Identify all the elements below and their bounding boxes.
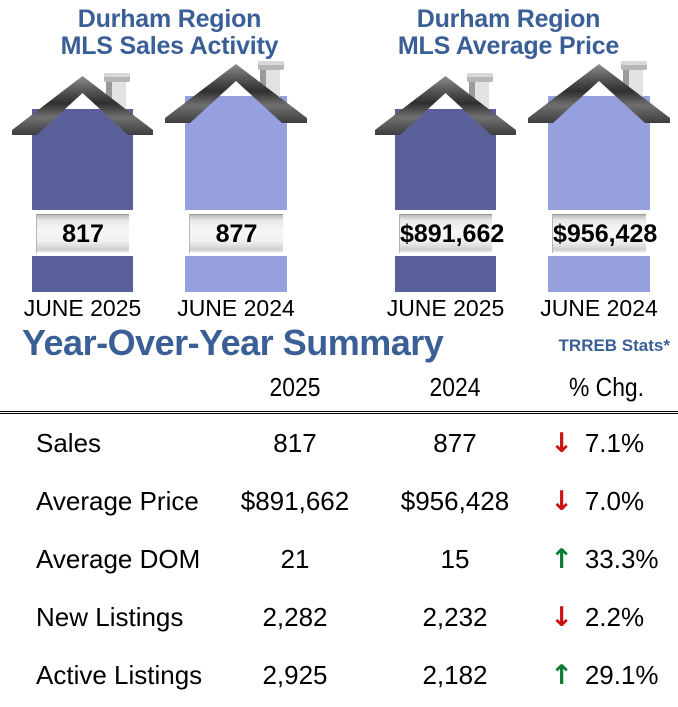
title-line-1: Durham Region bbox=[0, 6, 339, 33]
row-value-2024: 877 bbox=[375, 413, 535, 473]
row-value-2025: 817 bbox=[215, 413, 375, 473]
value-plate: $956,428 bbox=[552, 214, 646, 253]
table-row: Average DOM 21 15 ↑ 33.3% bbox=[0, 530, 678, 588]
chart-titles: Durham Region MLS Sales Activity Durham … bbox=[0, 0, 678, 60]
house-value: 877 bbox=[216, 220, 258, 248]
house-body bbox=[32, 109, 133, 292]
table-row: Active Listings 2,925 2,182 ↑ 29.1% bbox=[0, 646, 678, 704]
title-sales-activity: Durham Region MLS Sales Activity bbox=[0, 6, 339, 60]
column-header-2024: 2024 bbox=[385, 372, 526, 413]
house-value: $891,662 bbox=[400, 220, 504, 248]
row-change: ↓ 7.0% bbox=[535, 472, 678, 530]
column-header-blank bbox=[0, 372, 215, 413]
row-value-2025: 2,282 bbox=[215, 588, 375, 646]
table-row: New Listings 2,282 2,232 ↓ 2.2% bbox=[0, 588, 678, 646]
row-change: ↓ 7.1% bbox=[535, 413, 678, 473]
title-line-2: MLS Sales Activity bbox=[0, 33, 339, 60]
house-avgprice-2024: $956,428 JUNE 2024 bbox=[548, 60, 650, 322]
column-header-2025: 2025 bbox=[225, 372, 366, 413]
roof-icon bbox=[373, 74, 518, 136]
value-plate: 877 bbox=[189, 214, 283, 253]
arrow-down-icon: ↓ bbox=[550, 604, 573, 631]
house-value: 817 bbox=[62, 220, 104, 248]
value-box: $891,662 bbox=[395, 210, 496, 256]
row-value-2025: 2,925 bbox=[215, 646, 375, 704]
arrow-down-icon: ↓ bbox=[550, 488, 573, 515]
row-label: Active Listings bbox=[0, 646, 215, 704]
summary-title: Year-Over-Year Summary bbox=[22, 322, 443, 364]
value-plate: $891,662 bbox=[399, 214, 492, 253]
title-line-1: Durham Region bbox=[339, 6, 678, 33]
title-line-2: MLS Average Price bbox=[339, 33, 678, 60]
table-header-row: 2025 2024 % Chg. bbox=[0, 372, 678, 413]
row-value-2024: 2,232 bbox=[375, 588, 535, 646]
arrow-down-icon: ↓ bbox=[550, 430, 573, 457]
house-body bbox=[185, 96, 287, 292]
row-pct: 7.0% bbox=[585, 486, 663, 517]
source-note: TRREB Stats* bbox=[559, 336, 670, 356]
table-row: Sales 817 877 ↓ 7.1% bbox=[0, 413, 678, 473]
row-value-2025: $891,662 bbox=[215, 472, 375, 530]
row-value-2024: $956,428 bbox=[375, 472, 535, 530]
house-month-label: JUNE 2024 bbox=[155, 295, 317, 322]
roof-icon bbox=[10, 74, 155, 136]
house-chart-group: 817 JUNE 2025 bbox=[0, 60, 678, 322]
row-label: Average DOM bbox=[0, 530, 215, 588]
table-row: Average Price $891,662 $956,428 ↓ 7.0% bbox=[0, 472, 678, 530]
row-pct: 7.1% bbox=[585, 428, 663, 459]
row-change: ↑ 29.1% bbox=[535, 646, 678, 704]
house-avgprice-2025: $891,662 JUNE 2025 bbox=[395, 60, 496, 322]
row-value-2024: 15 bbox=[375, 530, 535, 588]
house-month-label: JUNE 2025 bbox=[2, 295, 163, 322]
house-sales-2025: 817 JUNE 2025 bbox=[32, 60, 133, 322]
house-sales-2024: 877 JUNE 2024 bbox=[185, 60, 287, 322]
house-body bbox=[395, 109, 496, 292]
year-over-year-table: 2025 2024 % Chg. Sales 817 877 ↓ 7.1% Av… bbox=[0, 372, 678, 704]
summary-header: Year-Over-Year Summary TRREB Stats* bbox=[0, 322, 678, 372]
row-pct: 29.1% bbox=[585, 660, 663, 691]
house-month-label: JUNE 2024 bbox=[518, 295, 678, 322]
value-plate: 817 bbox=[36, 214, 129, 253]
house-month-label: JUNE 2025 bbox=[365, 295, 526, 322]
roof-icon bbox=[163, 62, 309, 124]
arrow-up-icon: ↑ bbox=[550, 546, 573, 573]
row-change: ↓ 2.2% bbox=[535, 588, 678, 646]
arrow-up-icon: ↑ bbox=[550, 662, 573, 689]
row-value-2024: 2,182 bbox=[375, 646, 535, 704]
row-pct: 2.2% bbox=[585, 602, 663, 633]
row-label: Average Price bbox=[0, 472, 215, 530]
row-value-2025: 21 bbox=[215, 530, 375, 588]
row-change: ↑ 33.3% bbox=[535, 530, 678, 588]
value-box: $956,428 bbox=[548, 210, 650, 256]
title-average-price: Durham Region MLS Average Price bbox=[339, 6, 678, 60]
value-box: 877 bbox=[185, 210, 287, 256]
row-label: New Listings bbox=[0, 588, 215, 646]
row-pct: 33.3% bbox=[585, 544, 663, 575]
roof-icon bbox=[526, 62, 672, 124]
row-label: Sales bbox=[0, 413, 215, 473]
house-body bbox=[548, 96, 650, 292]
value-box: 817 bbox=[32, 210, 133, 256]
column-header-pct-chg: % Chg. bbox=[544, 372, 670, 413]
house-value: $956,428 bbox=[553, 220, 657, 248]
